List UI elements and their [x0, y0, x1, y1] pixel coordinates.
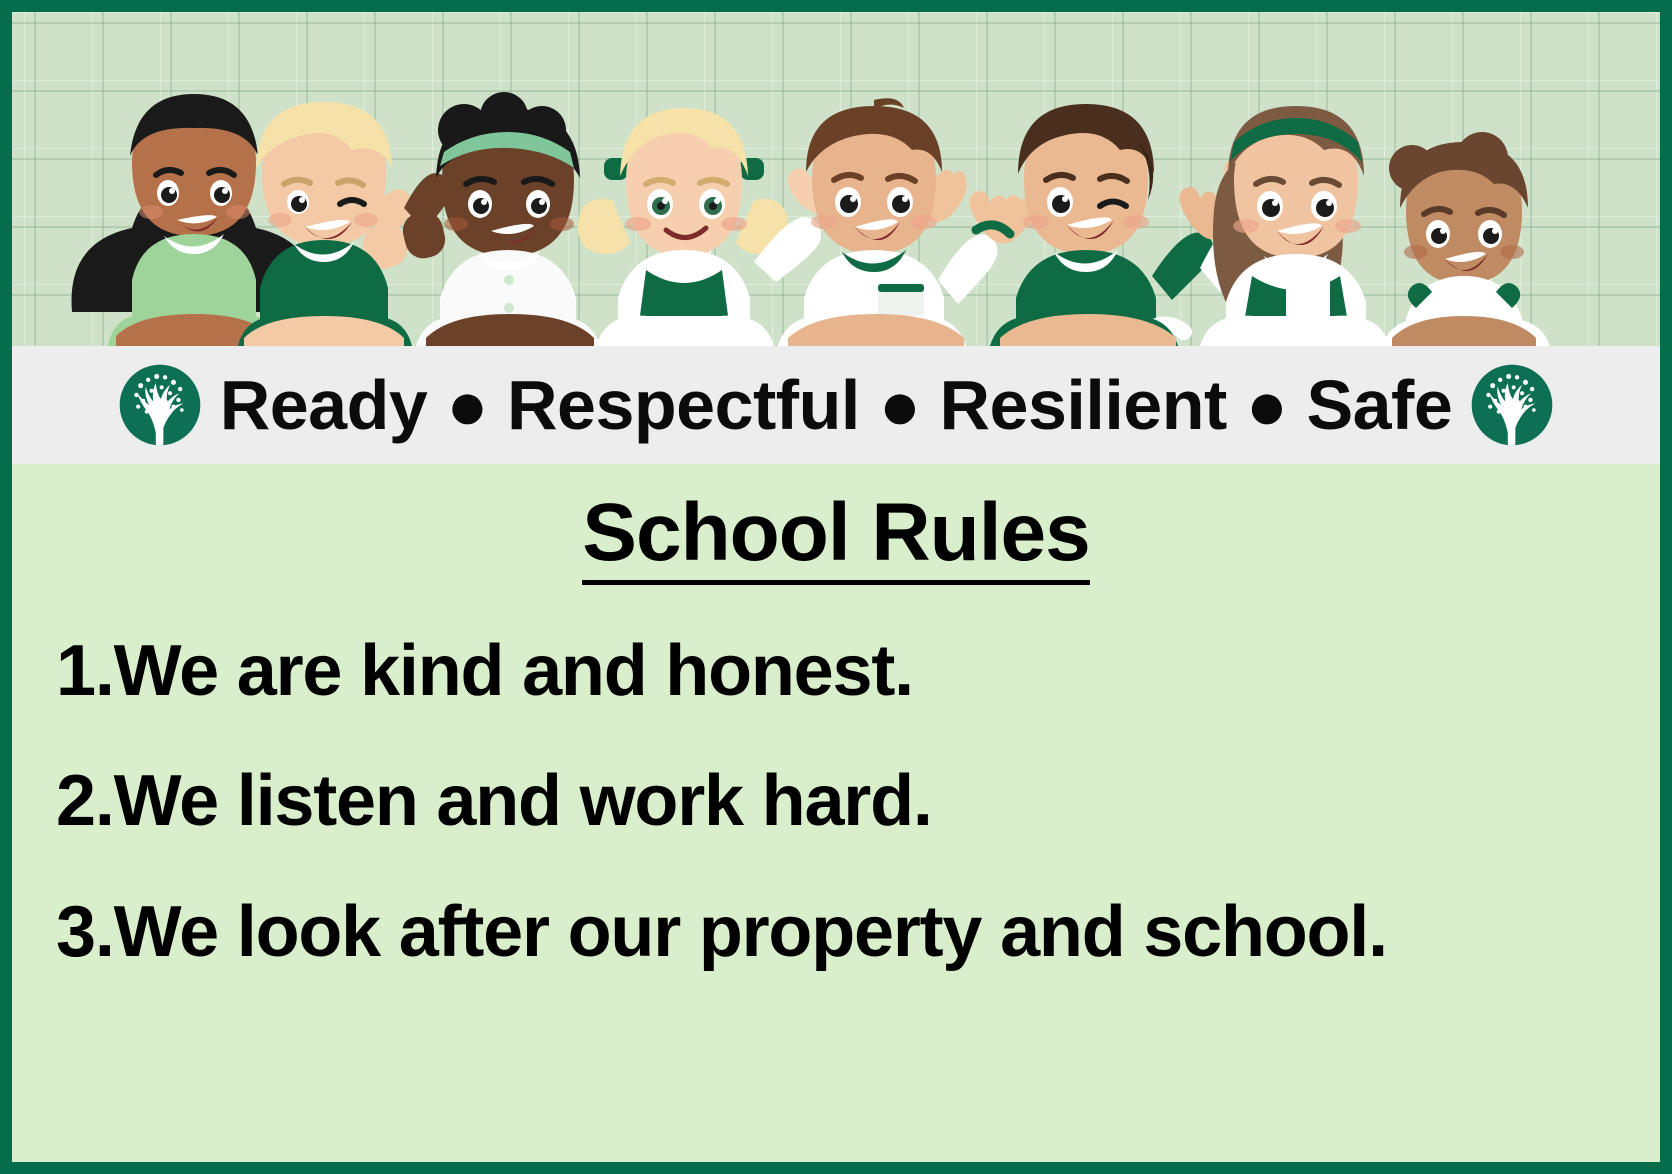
poster-body: School Rules 1. We are kind and honest. … [12, 464, 1660, 1162]
school-rules-list: 1. We are kind and honest. 2. We listen … [12, 585, 1660, 970]
school-children-illustration [12, 12, 1660, 346]
child-8 [1382, 132, 1550, 346]
tree-logo-icon [118, 363, 202, 447]
child-2 [238, 102, 412, 346]
rule-text: We are kind and honest. [114, 633, 913, 709]
rule-item: 1. We are kind and honest. [56, 633, 1620, 709]
rule-item: 2. We listen and work hard. [56, 763, 1620, 839]
tree-logo-icon [1470, 363, 1554, 447]
title-wrap: School Rules [12, 464, 1660, 585]
school-values-text: Ready ● Respectful ● Resilient ● Safe [202, 370, 1471, 440]
rule-text: We look after our property and school. [114, 894, 1387, 970]
page-title: School Rules [582, 490, 1089, 585]
school-values-banner: Ready ● Respectful ● Resilient ● Safe [12, 346, 1660, 464]
school-rules-poster: Ready ● Respectful ● Resilient ● Safe [0, 0, 1672, 1174]
children-illustration-band [12, 12, 1660, 346]
child-6 [990, 104, 1242, 346]
child-5 [778, 98, 1032, 346]
rule-number: 1. [56, 633, 114, 709]
child-3 [399, 92, 600, 346]
child-7 [1200, 106, 1390, 346]
poster-inner: Ready ● Respectful ● Resilient ● Safe [12, 12, 1660, 1162]
rule-item: 3. We look after our property and school… [56, 894, 1620, 970]
rule-number: 2. [56, 763, 114, 839]
rule-number: 3. [56, 894, 114, 970]
rule-text: We listen and work hard. [114, 763, 932, 839]
